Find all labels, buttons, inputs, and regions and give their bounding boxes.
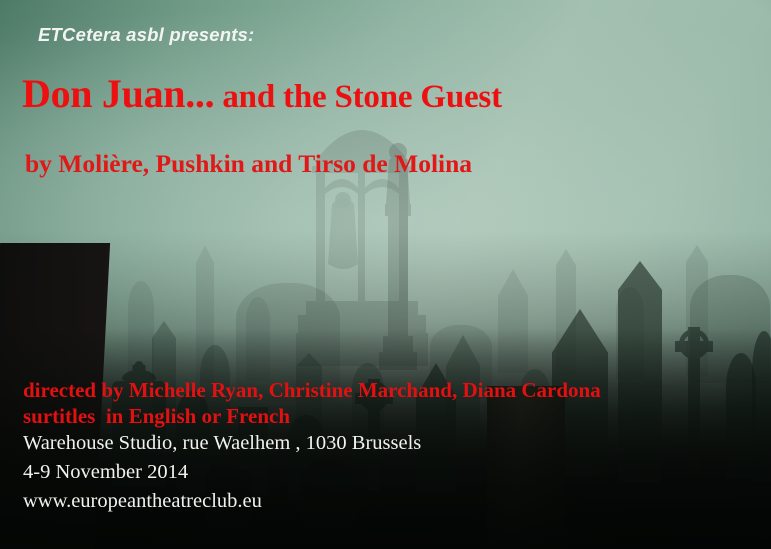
- venue-line: Warehouse Studio, rue Waelhem , 1030 Bru…: [23, 432, 421, 455]
- poster-title: Don Juan... and the Stone Guest: [22, 74, 502, 114]
- directors-line: directed by Michelle Ryan, Christine Mar…: [23, 378, 601, 403]
- authors-line: by Molière, Pushkin and Tirso de Molina: [25, 149, 472, 179]
- surtitles-line: surtitles in English or French: [23, 404, 290, 429]
- title-subtitle: and the Stone Guest: [214, 79, 502, 115]
- dates-line: 4-9 November 2014: [23, 461, 188, 484]
- website-line: www.europeantheatreclub.eu: [23, 490, 262, 513]
- title-main: Don Juan...: [22, 71, 214, 116]
- presenter-line: ETCetera asbl presents:: [38, 24, 254, 46]
- theatre-poster: ETCetera asbl presents: Don Juan... and …: [0, 0, 771, 549]
